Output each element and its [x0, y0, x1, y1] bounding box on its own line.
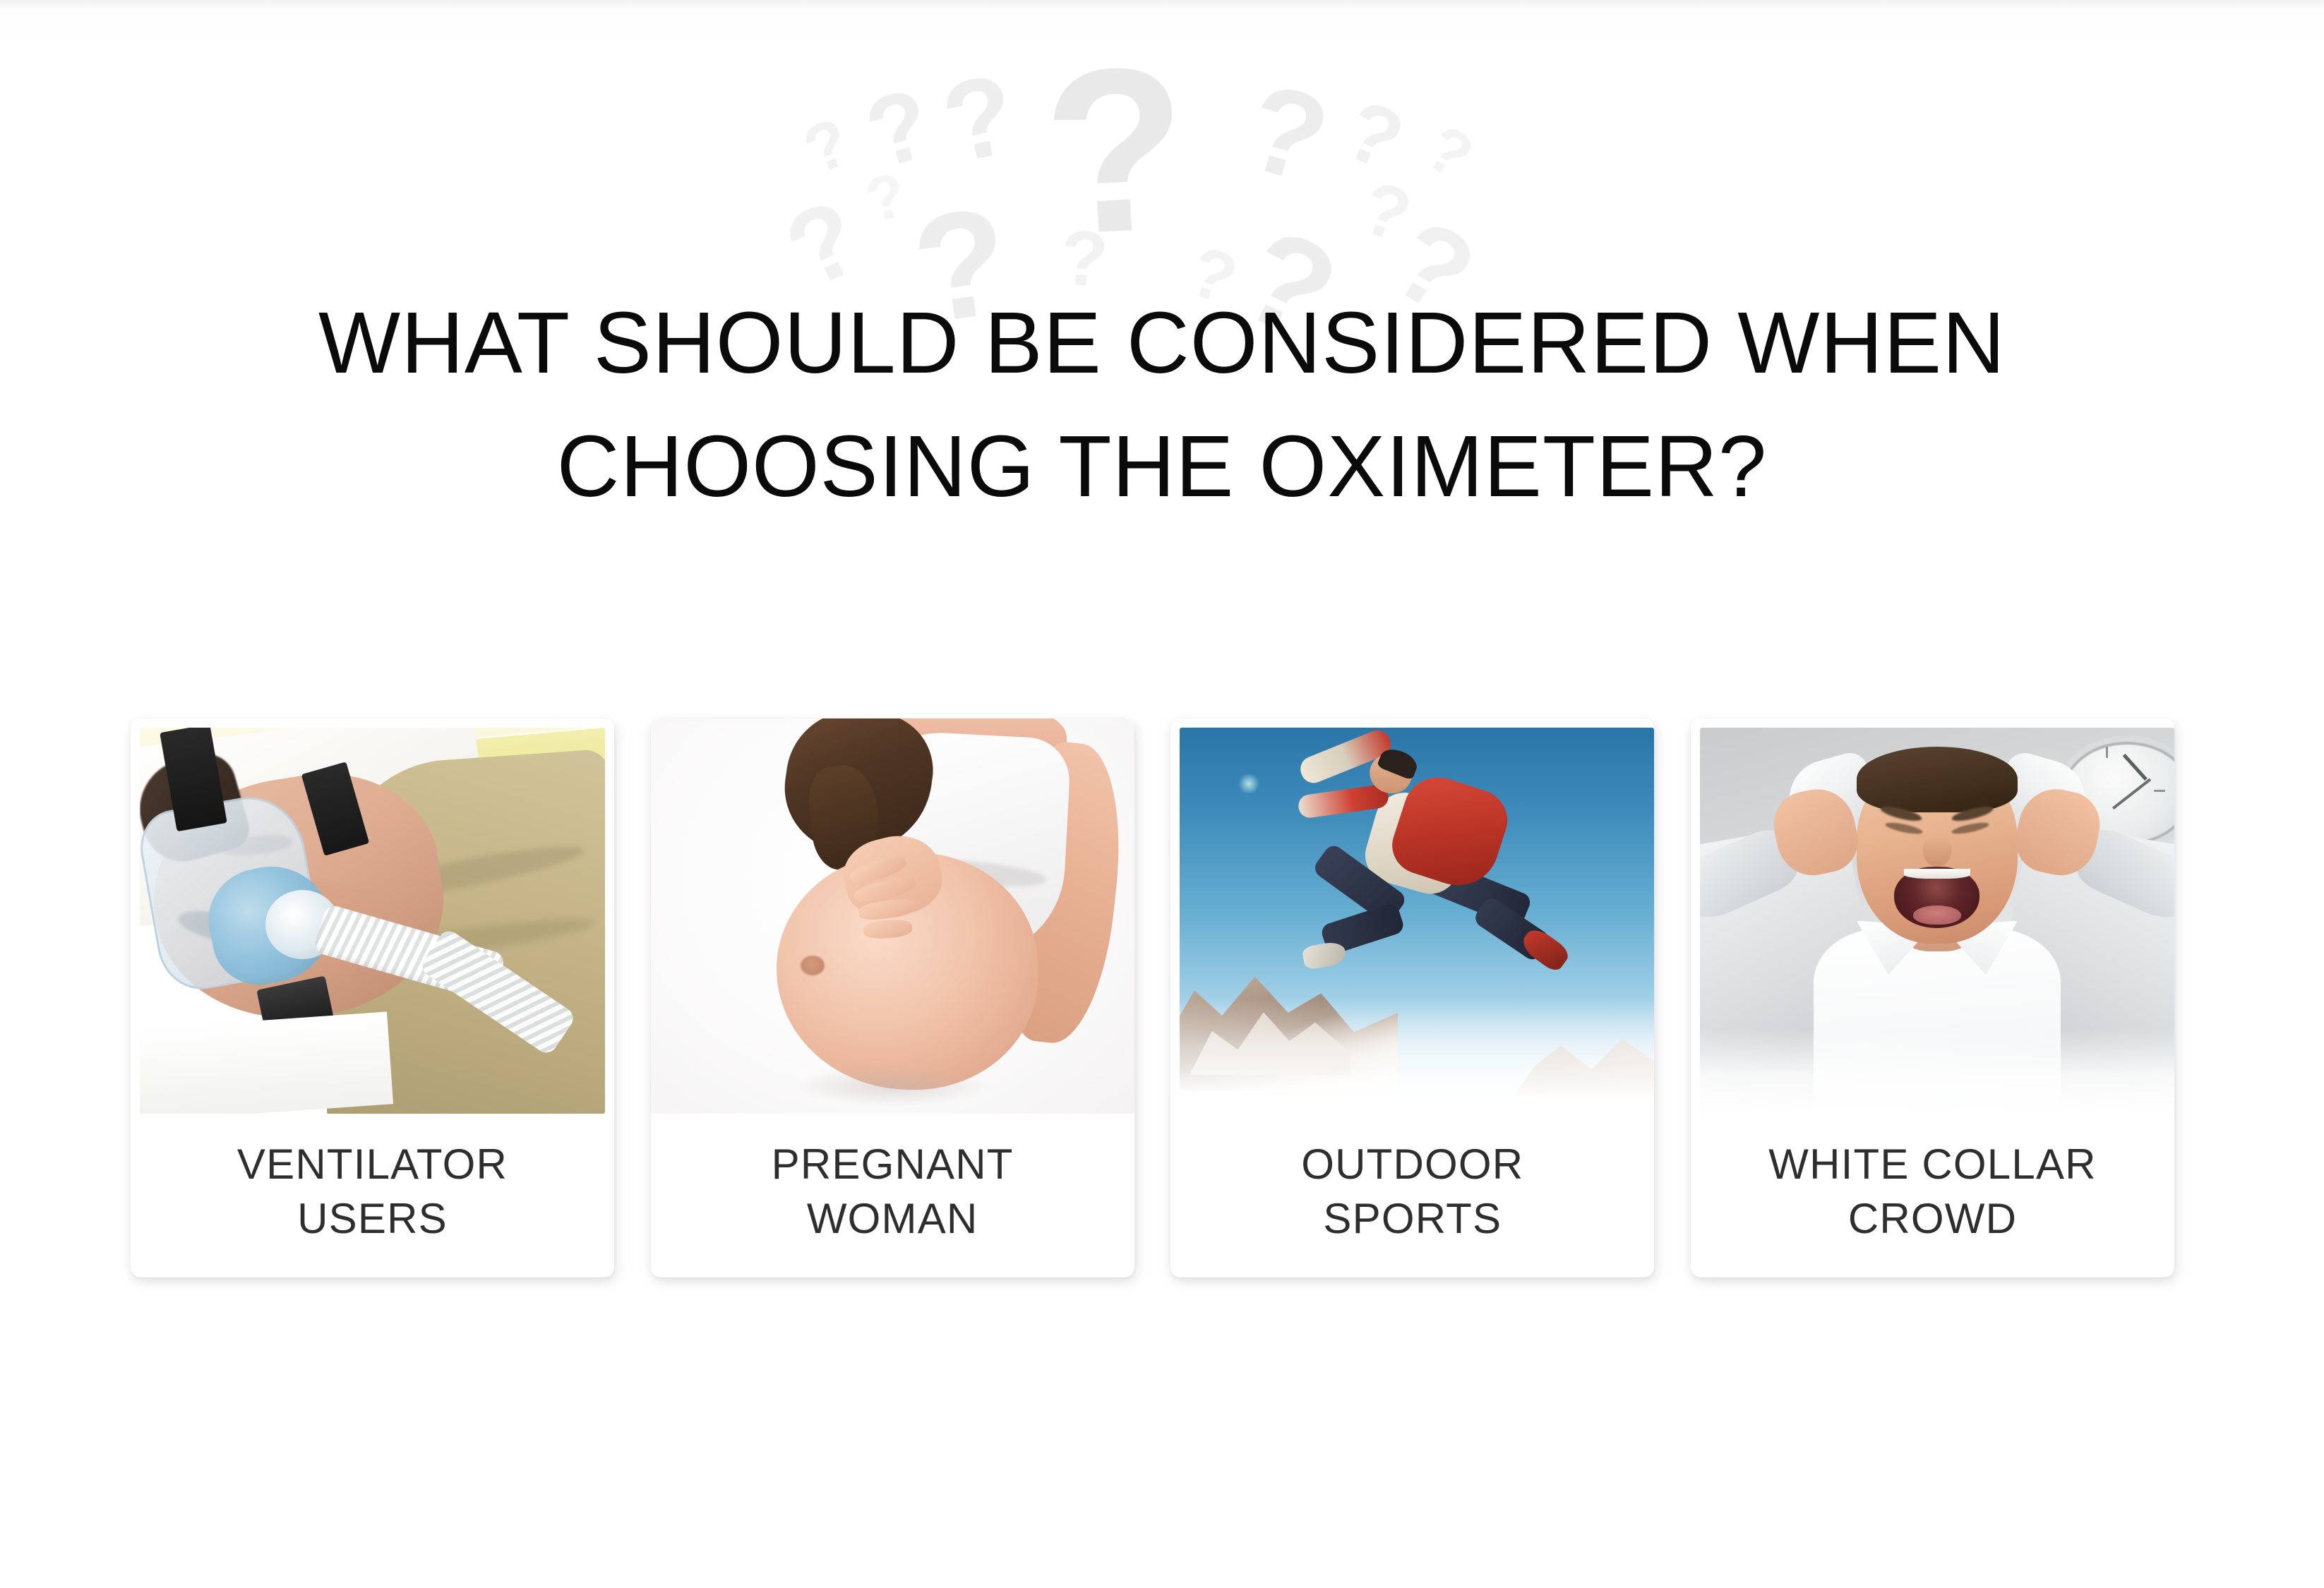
- card-label-white-collar-crowd: WHITE COLLAR CROWD: [1691, 1114, 2174, 1277]
- card-label-ventilator-users: VENTILATOR USERS: [131, 1114, 614, 1277]
- question-mark-icon: ?: [1415, 114, 1483, 191]
- page-title-line-1: WHAT SHOULD BE CONSIDERED WHEN: [0, 282, 2324, 406]
- card-label-line-2: WOMAN: [807, 1192, 978, 1246]
- card-photo-white-collar-crowd: [1691, 718, 2174, 1114]
- card-label-outdoor-sports: OUTDOOR SPORTS: [1170, 1114, 1654, 1277]
- question-mark-icon: ?: [1039, 30, 1194, 270]
- page-title-line-2: CHOOSING THE OXIMETER?: [0, 406, 2324, 529]
- card-label-line-2: USERS: [297, 1192, 448, 1246]
- card-label-line-2: SPORTS: [1323, 1192, 1502, 1246]
- card-photo-ventilator-users: [131, 718, 614, 1114]
- card-photo-pregnant-woman: [651, 718, 1134, 1114]
- card-label-line-1: PREGNANT: [772, 1138, 1014, 1192]
- question-mark-icon: ?: [795, 108, 858, 186]
- question-mark-watermark: ???????????????: [791, 28, 1539, 311]
- question-mark-icon: ?: [856, 73, 941, 184]
- card-label-pregnant-woman: PREGNANT WOMAN: [651, 1114, 1134, 1277]
- card-label-line-1: VENTILATOR: [237, 1138, 508, 1192]
- card-pregnant-woman[interactable]: PREGNANT WOMAN: [651, 718, 1134, 1277]
- question-mark-icon: ?: [1334, 86, 1415, 184]
- page-title: WHAT SHOULD BE CONSIDERED WHEN CHOOSING …: [0, 282, 2324, 529]
- card-photo-outdoor-sports: [1170, 718, 1654, 1114]
- question-mark-icon: ?: [1234, 64, 1341, 204]
- category-card-row: VENTILATOR USERS: [131, 718, 2174, 1290]
- card-label-line-1: OUTDOOR: [1301, 1138, 1523, 1192]
- card-white-collar-crowd[interactable]: WHITE COLLAR CROWD: [1691, 718, 2174, 1277]
- question-mark-icon: ?: [860, 163, 911, 232]
- card-outdoor-sports[interactable]: OUTDOOR SPORTS: [1170, 718, 1654, 1277]
- question-mark-icon: ?: [933, 56, 1024, 181]
- card-ventilator-users[interactable]: VENTILATOR USERS: [131, 718, 614, 1277]
- question-mark-icon: ?: [1353, 170, 1419, 255]
- card-label-line-2: CROWD: [1848, 1192, 2017, 1246]
- card-label-line-1: WHITE COLLAR: [1768, 1138, 2096, 1192]
